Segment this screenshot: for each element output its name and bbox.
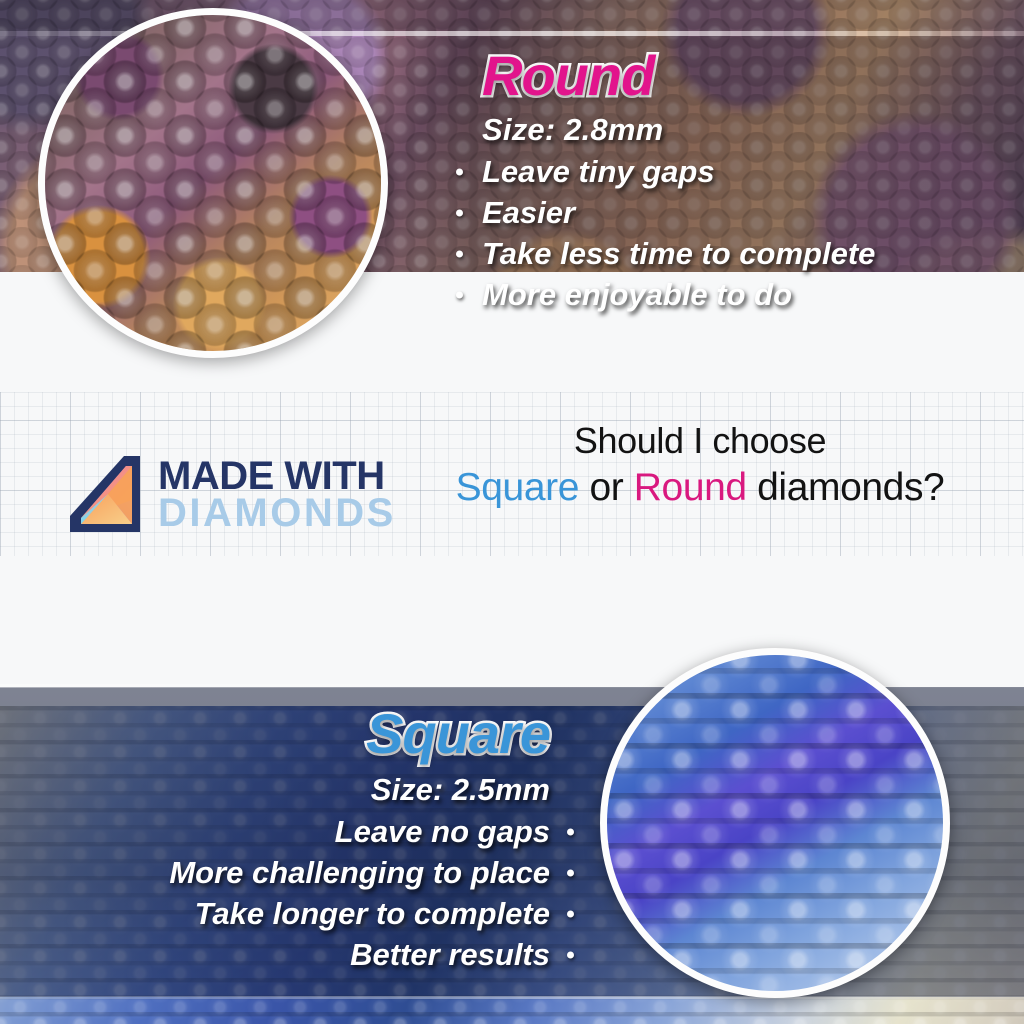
question-tail-word: diamonds? [747,466,945,509]
question-block: Should I choose Square or Round diamonds… [420,418,980,514]
bullet-dot-icon [567,829,574,836]
square-bullet-list: Leave no gaps More challenging to place … [60,812,580,976]
list-item: Take longer to complete [60,894,580,935]
question-square-word: Square [456,466,579,509]
round-drill-closeup-circle [38,8,388,358]
round-bullet-text: Easier [482,195,575,230]
round-bullet-list: Leave tiny gaps Easier Take less time to… [452,152,1012,316]
question-line-1: Should I choose [420,418,980,463]
list-item: More enjoyable to do [452,275,1012,316]
question-line-2: Square or Round diamonds? [420,463,980,514]
round-bullet-text: Leave tiny gaps [482,154,715,189]
bullet-dot-icon [456,251,463,258]
bullet-dot-icon [456,210,463,217]
bullet-dot-icon [567,870,574,877]
square-closeup-beads-offset [600,648,950,998]
square-drill-closeup-circle [600,648,950,998]
list-item: Easier [452,193,1012,234]
square-size-label: Size: 2.5mm [60,772,550,808]
logo-made-with-text: MADE WITH [158,458,396,495]
round-title: Round [482,48,1012,104]
list-item: Leave tiny gaps [452,152,1012,193]
bullet-dot-icon [567,911,574,918]
round-size-label: Size: 2.8mm [482,112,1012,148]
question-or-word: or [579,466,634,509]
square-bullet-text: Take longer to complete [195,896,550,931]
list-item: Better results [60,935,580,976]
square-bullet-text: Leave no gaps [335,814,550,849]
square-text-block: Square Size: 2.5mm Leave no gaps More ch… [60,706,580,976]
square-bullet-text: Better results [350,937,550,972]
diamond-painting-comparison-infographic: Round Size: 2.8mm Leave tiny gaps Easier… [0,0,1024,1024]
square-title: Square [60,706,550,762]
square-band-bottom-divider [0,996,1024,999]
diamond-prism-icon [68,454,142,536]
bullet-dot-icon [456,169,463,176]
square-bullet-text: More challenging to place [169,855,550,890]
round-bullet-text: Take less time to complete [482,236,875,271]
round-closeup-beads-offset [38,8,388,358]
bullet-dot-icon [567,952,574,959]
brand-logo[interactable]: MADE WITH DIAMONDS [68,454,396,536]
round-text-block: Round Size: 2.8mm Leave tiny gaps Easier… [452,48,1012,316]
logo-diamonds-text: DIAMONDS [158,495,396,532]
round-bullet-text: More enjoyable to do [482,277,792,312]
round-panel: Round Size: 2.8mm Leave tiny gaps Easier… [0,0,1024,392]
brand-wordmark: MADE WITH DIAMONDS [158,458,396,532]
list-item: More challenging to place [60,853,580,894]
list-item: Leave no gaps [60,812,580,853]
square-panel: Square Size: 2.5mm Leave no gaps More ch… [0,556,1024,1024]
question-round-word: Round [634,466,747,509]
bullet-dot-icon [456,292,463,299]
list-item: Take less time to complete [452,234,1012,275]
